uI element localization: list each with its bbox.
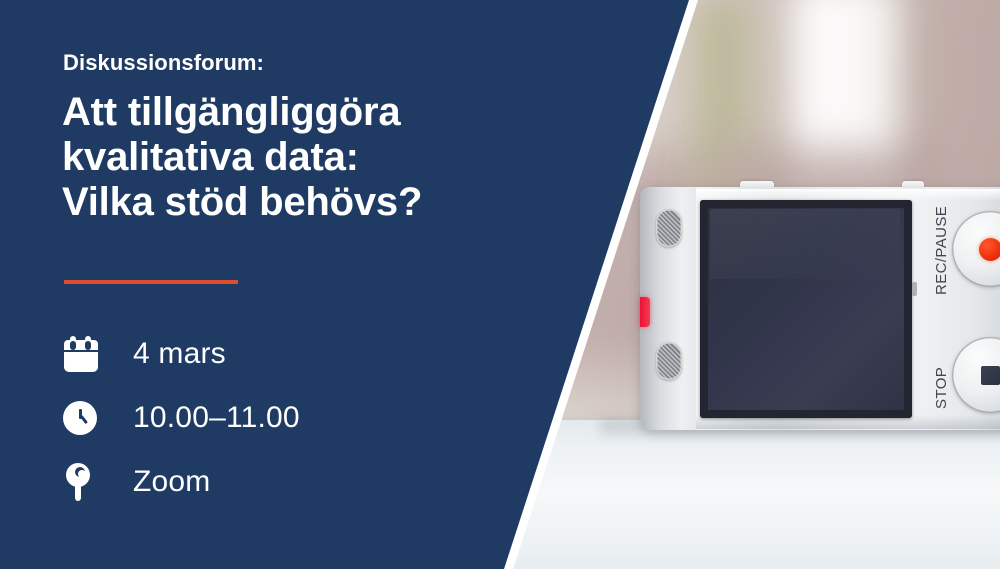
stop-square-icon — [981, 366, 1000, 385]
recorder-top-nub-left — [740, 181, 774, 188]
clock-icon-wrapper — [63, 401, 109, 435]
promo-banner: REC/PAUSE STOP Diskussionsforum: Att til… — [0, 0, 1000, 569]
accent-divider-rule — [64, 280, 238, 284]
event-detail-date: 4 mars — [63, 322, 300, 386]
event-detail-time: 10.00–11.00 — [63, 386, 300, 450]
calendar-icon — [63, 336, 99, 372]
event-eyebrow: Diskussionsforum: — [63, 50, 264, 76]
microphone-grille-bottom-icon — [656, 342, 682, 380]
clock-icon — [63, 401, 97, 435]
event-time-value: 10.00–11.00 — [109, 401, 300, 435]
location-pin-icon — [63, 463, 93, 501]
event-location-value: Zoom — [109, 465, 211, 499]
voice-recorder-device: REC/PAUSE STOP — [640, 187, 1000, 432]
event-details-list: 4 mars 10.00–11.00 — [63, 322, 300, 514]
recording-led-indicator — [640, 297, 650, 327]
event-title: Att tillgängliggöra kvalitativa data: Vi… — [62, 90, 422, 225]
pin-hole-highlight — [78, 470, 86, 478]
event-title-line-1: Att tillgängliggöra — [62, 90, 422, 135]
location-pin-icon-wrapper — [63, 463, 109, 501]
record-dot-icon — [979, 238, 1000, 261]
event-title-line-3: Vilka stöd behövs? — [62, 180, 422, 225]
stop-button-label: STOP — [933, 367, 950, 409]
record-button-label: REC/PAUSE — [933, 206, 950, 295]
event-title-line-2: kvalitativa data: — [62, 135, 422, 180]
stop-button[interactable] — [952, 337, 1000, 413]
microphone-grille-top-icon — [656, 209, 682, 247]
recorder-button-panel: REC/PAUSE STOP — [917, 187, 1000, 430]
screen-glare — [710, 209, 900, 279]
calendar-body — [64, 352, 98, 372]
calendar-notch-right — [85, 341, 91, 350]
calendar-icon-wrapper — [63, 336, 109, 372]
calendar-notch-left — [70, 341, 76, 350]
record-button[interactable] — [952, 211, 1000, 287]
event-info-panel: Diskussionsforum: Att tillgängliggöra kv… — [0, 0, 512, 569]
event-detail-location: Zoom — [63, 450, 300, 514]
pin-stem — [75, 481, 81, 501]
event-date-value: 4 mars — [109, 337, 226, 371]
